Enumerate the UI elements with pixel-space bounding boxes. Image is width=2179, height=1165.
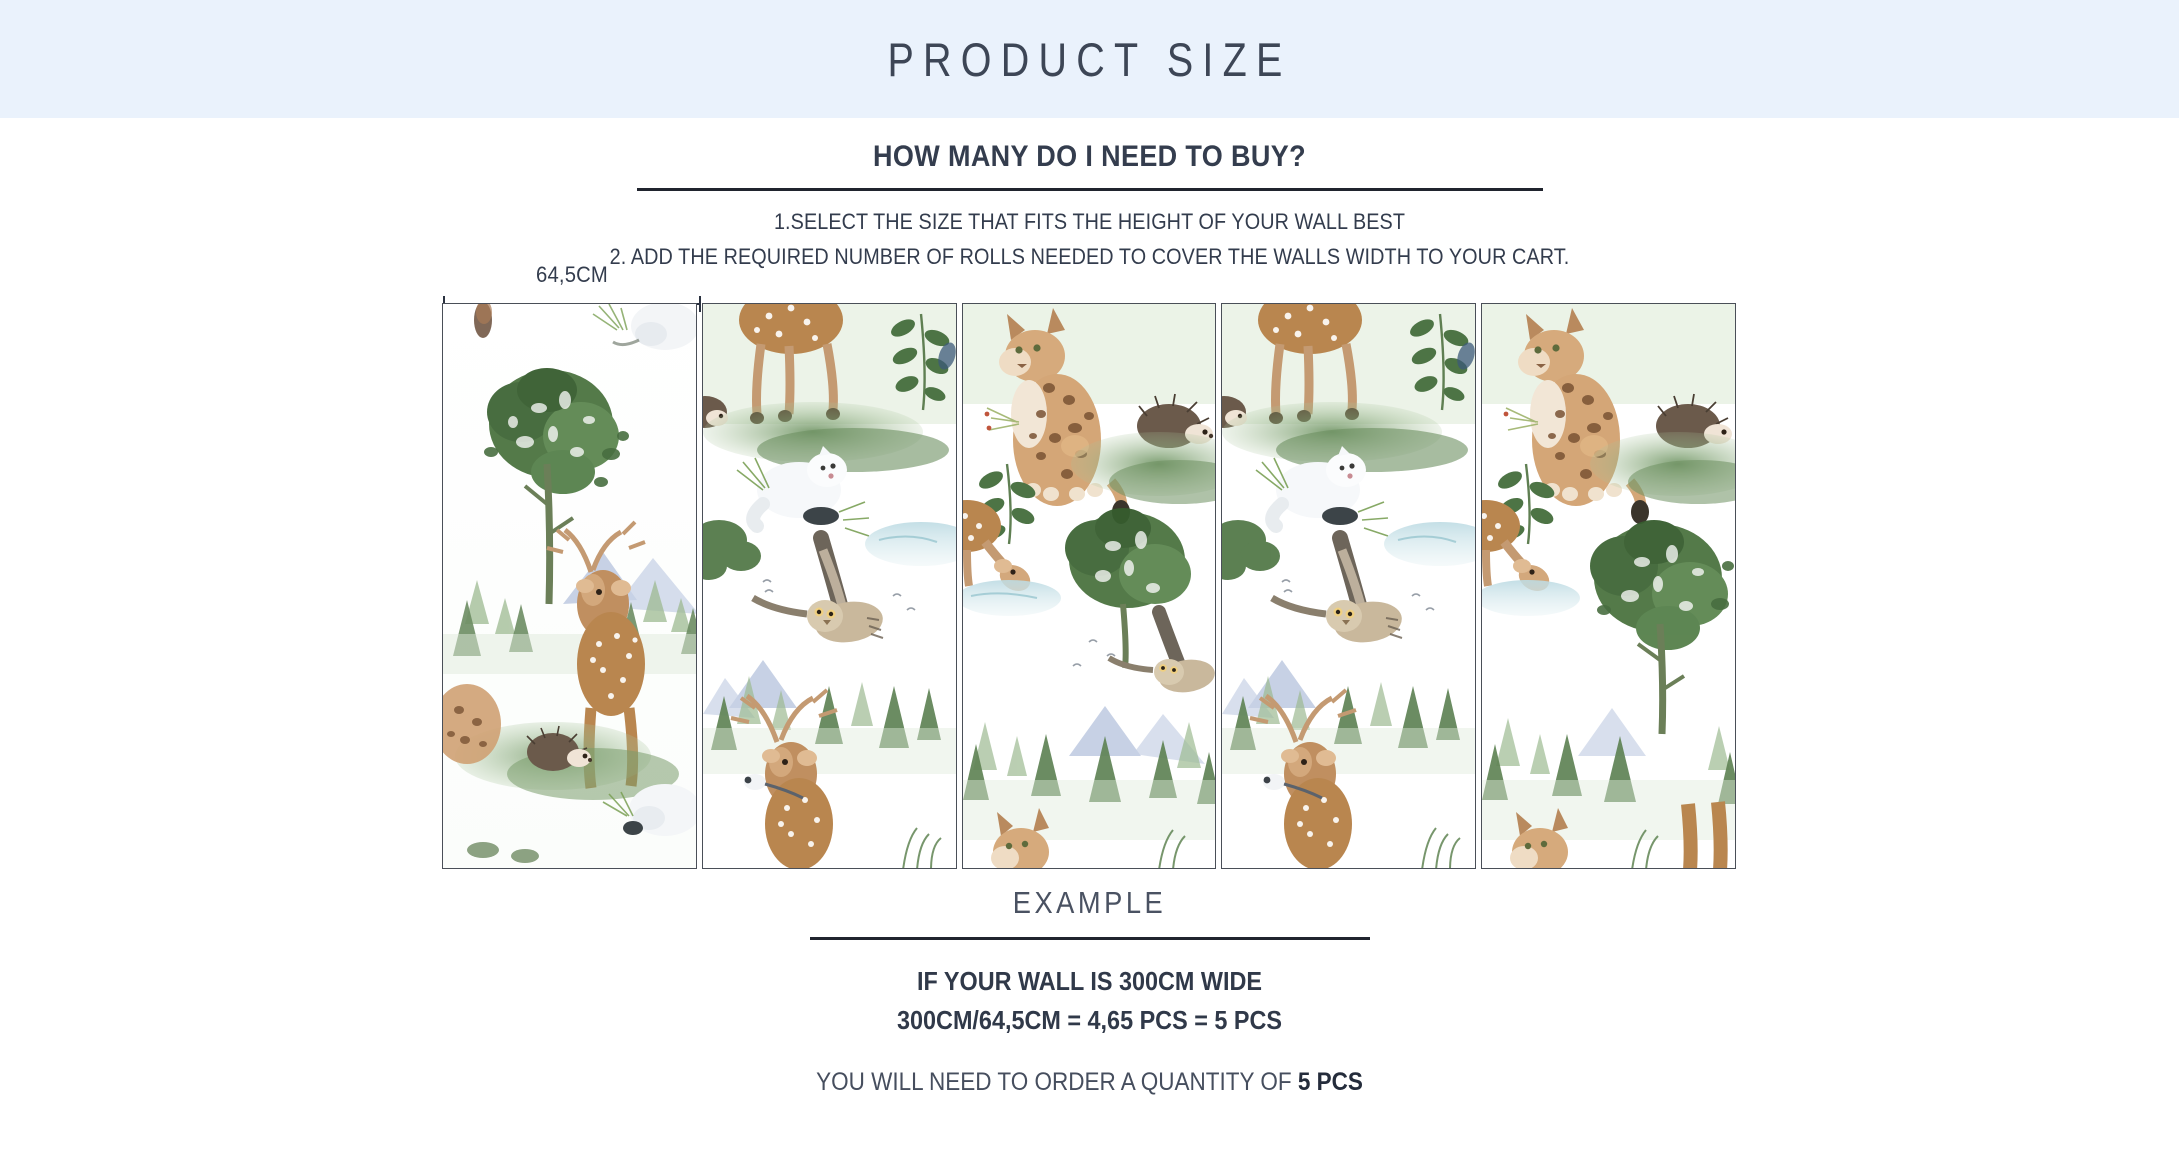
example-divider xyxy=(810,937,1370,940)
measurement-label: 64,5CM xyxy=(453,262,690,288)
instructions-section: HOW MANY DO I NEED TO BUY? 1.SELECT THE … xyxy=(0,118,2179,270)
wallpaper-artwork-3 xyxy=(963,304,1216,868)
wallpaper-artwork-1 xyxy=(443,304,696,868)
wallpaper-panel-2[interactable] xyxy=(702,303,957,869)
example-footer: YOU WILL NEED TO ORDER A QUANTITY OF 5 P… xyxy=(109,1068,2070,1097)
instruction-step-1: 1.SELECT THE SIZE THAT FITS THE HEIGHT O… xyxy=(109,209,2070,235)
wallpaper-panel-3[interactable] xyxy=(962,303,1217,869)
instructions-heading: HOW MANY DO I NEED TO BUY? xyxy=(109,140,2070,174)
wallpaper-artwork-4 xyxy=(1222,304,1475,868)
example-footer-prefix: YOU WILL NEED TO ORDER A QUANTITY OF xyxy=(816,1068,1298,1096)
example-heading: EXAMPLE xyxy=(131,885,2049,921)
page-title: PRODUCT SIZE xyxy=(887,32,1291,87)
example-section: EXAMPLE IF YOUR WALL IS 300CM WIDE 300CM… xyxy=(0,885,2179,1097)
wallpaper-artwork-2 xyxy=(703,304,956,868)
wallpaper-panel-5[interactable] xyxy=(1481,303,1736,869)
example-footer-quantity: 5 PCS xyxy=(1298,1068,1363,1096)
wallpaper-panel-strip xyxy=(442,303,1736,869)
wallpaper-panel-4[interactable] xyxy=(1221,303,1476,869)
example-wall-width: IF YOUR WALL IS 300CM WIDE xyxy=(109,966,2070,997)
instructions-divider xyxy=(637,188,1543,191)
instruction-step-2: 2. ADD THE REQUIRED NUMBER OF ROLLS NEED… xyxy=(109,244,2070,270)
page-header: PRODUCT SIZE xyxy=(0,0,2179,118)
wallpaper-artwork-5 xyxy=(1482,304,1735,868)
wallpaper-panel-1[interactable] xyxy=(442,303,697,869)
example-calculation: 300CM/64,5CM = 4,65 PCS = 5 PCS xyxy=(109,1005,2070,1036)
